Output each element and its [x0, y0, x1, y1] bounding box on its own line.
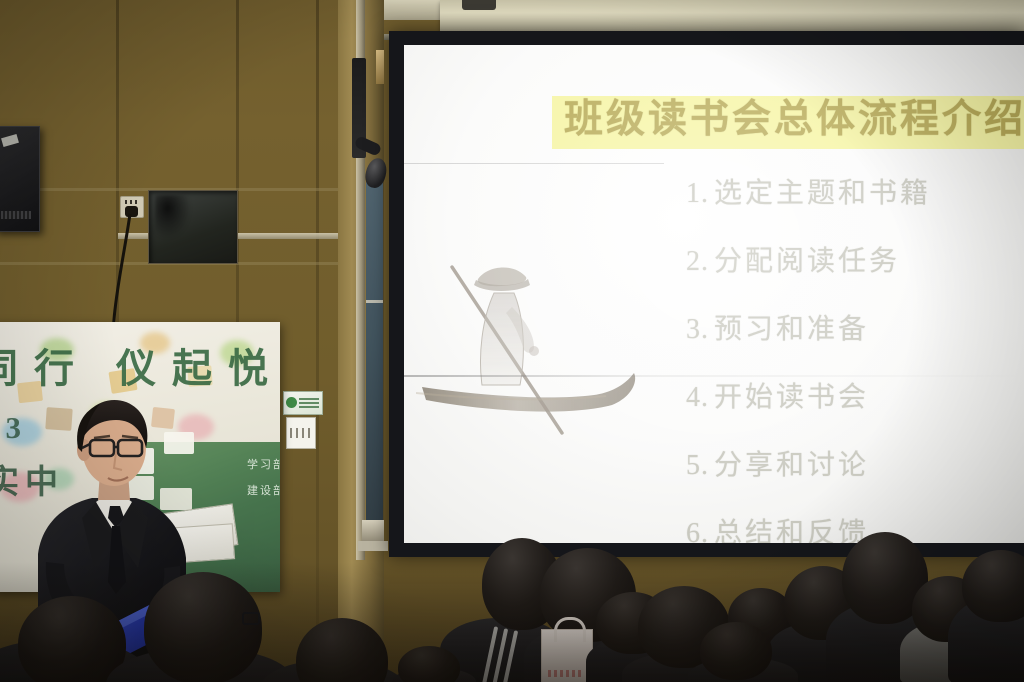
notice-text-lines	[290, 428, 312, 438]
slide-title: 班级读书会总体流程介绍	[552, 96, 1024, 149]
bottom-shadow	[0, 562, 1024, 682]
list-item-number: 6.	[686, 518, 709, 543]
window-smudge	[155, 195, 191, 239]
column-panel-break	[366, 300, 383, 303]
column-panel	[366, 178, 383, 520]
list-item-number: 2.	[686, 246, 709, 277]
poster-department-top: 学习部	[247, 456, 280, 472]
screen-crease	[404, 375, 1024, 377]
safety-sign	[283, 391, 323, 415]
list-item-text: 开始读书会	[714, 382, 869, 413]
recessed-window	[148, 190, 238, 264]
list-item-number: 3.	[686, 314, 709, 345]
outlet-holes	[125, 200, 139, 204]
classroom-photo: 班级读书会总体流程介绍 1.选定主题和书籍 2.分配阅读任务 3.预习和准备 4…	[0, 0, 1024, 682]
list-item-text: 分享和讨论	[714, 450, 869, 481]
speaker-grille	[1, 211, 31, 219]
slide-agenda-list: 1.选定主题和书籍 2.分配阅读任务 3.预习和准备 4.开始读书会 5.分享和…	[686, 171, 1016, 543]
list-item: 1.选定主题和书籍	[686, 171, 1016, 211]
roller-left-cap	[384, 0, 442, 20]
list-item-text: 分配阅读任务	[714, 246, 900, 277]
list-item-text: 选定主题和书籍	[714, 178, 931, 209]
sign-dot-icon	[286, 397, 297, 408]
screen-crease	[404, 163, 664, 164]
list-item: 4.开始读书会	[686, 375, 1016, 415]
list-item: 6.总结和反馈	[686, 511, 1016, 543]
projection-screen[interactable]: 班级读书会总体流程介绍 1.选定主题和书籍 2.分配阅读任务 3.预习和准备 4…	[404, 45, 1024, 543]
sign-text-lines	[299, 398, 319, 408]
ink-wash-boatman-illustration	[416, 235, 666, 445]
poster-department-bottom: 建设部	[247, 482, 280, 498]
speaker-tag	[1, 134, 19, 147]
list-item-text: 预习和准备	[714, 314, 869, 345]
wall-speaker-icon	[0, 126, 40, 232]
list-item: 5.分享和讨论	[686, 443, 1016, 483]
list-item: 3.预习和准备	[686, 307, 1016, 347]
list-item-number: 5.	[686, 450, 709, 481]
roller-bracket	[462, 0, 496, 10]
list-item-text: 总结和反馈	[714, 518, 869, 543]
column-lamp	[376, 50, 384, 84]
list-item-number: 1.	[686, 178, 709, 209]
column-base	[358, 541, 388, 551]
list-item-number: 4.	[686, 382, 709, 413]
notice-sign	[286, 417, 316, 449]
list-item: 2.分配阅读任务	[686, 239, 1016, 279]
